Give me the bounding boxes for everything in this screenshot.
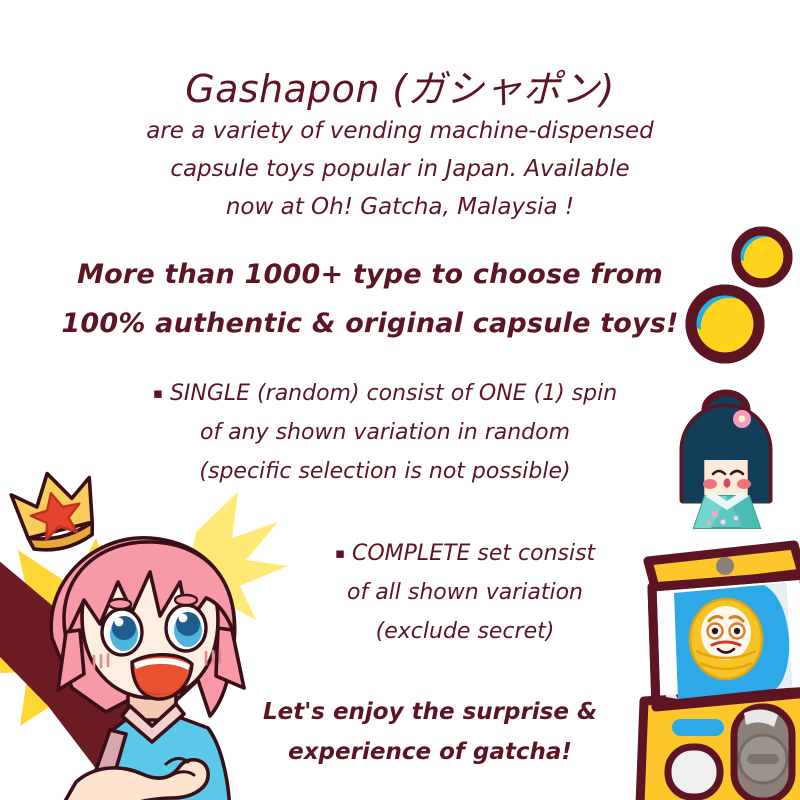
lede-line-1: are a variety of vending machine-dispens… (108, 112, 692, 150)
closing-line-2: experience of gatcha! (230, 732, 630, 772)
single-line-1-text: SINGLE (random) consist of ONE (1) spin (170, 381, 617, 406)
daruma-toy (690, 599, 762, 679)
single-line-1: ▪ SINGLE (random) consist of ONE (1) spi… (120, 374, 650, 413)
complete-line-1: ▪ COMPLETE set consist (290, 534, 640, 573)
complete-line-3: (exclude secret) (290, 612, 640, 651)
page-title: Gashapon (ガシャポン) (0, 58, 800, 113)
single-option-block: ▪ SINGLE (random) consist of ONE (1) spi… (120, 374, 650, 491)
headline-line-1: More than 1000+ type to choose from (40, 250, 700, 299)
headline-block: More than 1000+ type to choose from 100%… (40, 250, 700, 348)
lede-line-3: now at Oh! Gatcha, Malaysia ! (108, 188, 692, 226)
single-line-2: of any shown variation in random (120, 413, 650, 452)
single-line-3: (specific selection is not possible) (120, 452, 650, 491)
closing-block: Let's enjoy the surprise & experience of… (230, 692, 630, 772)
kokeshi-doll (663, 388, 793, 528)
headline-line-2: 100% authentic & original capsule toys! (40, 299, 700, 348)
poster-canvas: Gashapon (ガシャポン) are a variety of vendin… (0, 0, 800, 800)
gashapon-machine (626, 515, 800, 800)
complete-option-block: ▪ COMPLETE set consist of all shown vari… (290, 534, 640, 651)
lede-paragraph: are a variety of vending machine-dispens… (108, 112, 692, 226)
capsule-toy-small (731, 226, 793, 288)
closing-line-1: Let's enjoy the surprise & (230, 692, 630, 732)
complete-line-1-text: COMPLETE set consist (352, 541, 595, 566)
lede-line-2: capsule toys popular in Japan. Available (108, 150, 692, 188)
bullet-icon: ▪ (335, 544, 345, 562)
bullet-icon: ▪ (153, 384, 163, 402)
complete-line-2: of all shown variation (290, 573, 640, 612)
